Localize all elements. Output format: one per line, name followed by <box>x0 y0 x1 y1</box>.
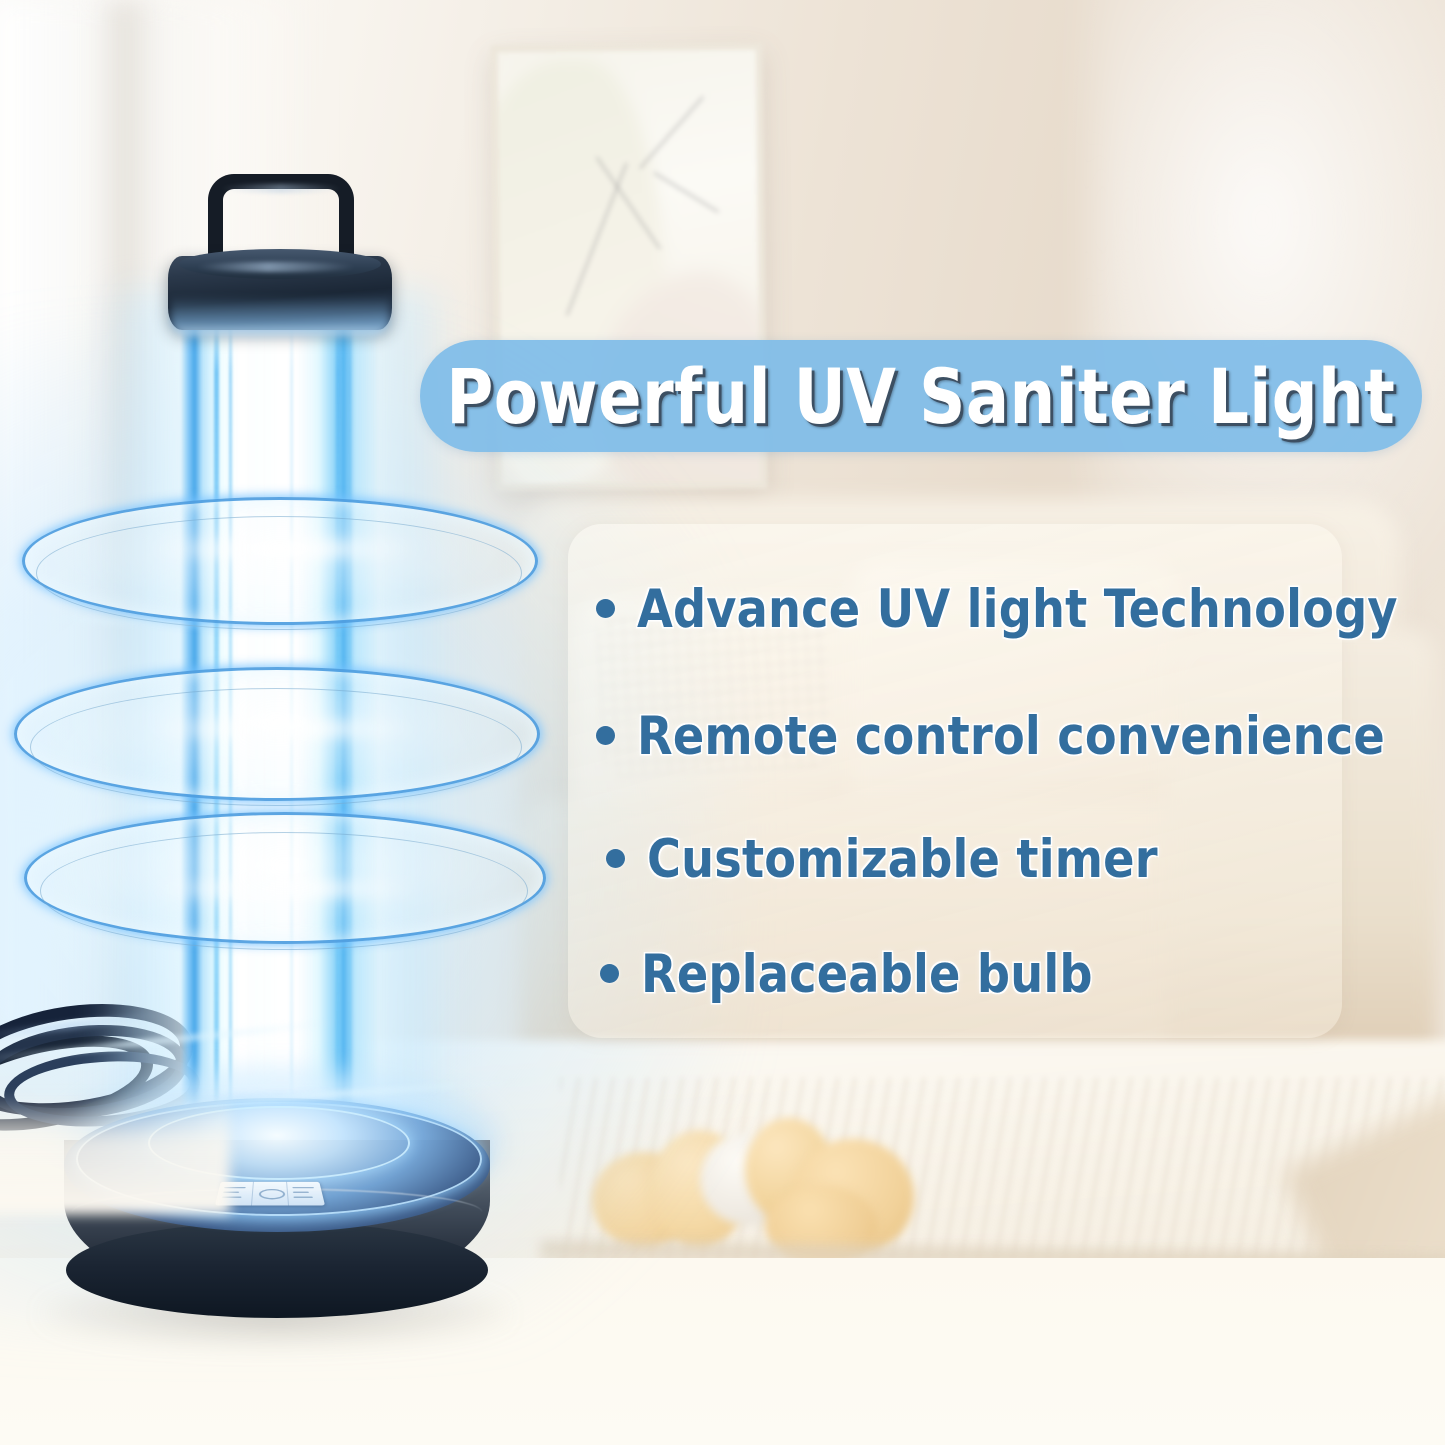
uv-emission-ring-inner <box>40 832 528 950</box>
feature-label: Replaceable bulb <box>641 944 1093 1005</box>
base-control-panel[interactable] <box>215 1182 325 1206</box>
bullet-icon <box>606 849 625 868</box>
feature-label: Customizable timer <box>647 829 1158 890</box>
lamp-cap-glow <box>171 296 389 336</box>
lamp-cap-highlight <box>196 262 356 272</box>
control-segment-center[interactable] <box>252 1182 289 1206</box>
control-marking <box>292 1187 314 1188</box>
feature-panel: Advance UV light Technology Remote contr… <box>568 524 1342 1038</box>
control-marking <box>293 1192 309 1193</box>
list-item: Customizable timer <box>606 829 1174 890</box>
art-line <box>653 172 719 213</box>
bullet-icon <box>596 599 615 618</box>
power-button-icon[interactable] <box>259 1189 286 1200</box>
list-item: Advance UV light Technology <box>596 579 1421 640</box>
uv-emission-ring-inner <box>30 688 522 806</box>
list-item: Remote control convenience <box>596 706 1408 767</box>
feature-label: Remote control convenience <box>637 706 1385 767</box>
lamp-base-bottom <box>66 1222 488 1318</box>
bullet-icon <box>596 726 615 745</box>
cable-fade-mask <box>0 1094 230 1214</box>
art-line <box>639 96 704 169</box>
product-marketing-scene: Powerful UV Saniter Light Advance UV lig… <box>0 0 1445 1445</box>
feature-list: Advance UV light Technology Remote contr… <box>568 524 1342 1038</box>
list-item: Replaceable bulb <box>600 944 1107 1005</box>
control-marking <box>293 1197 313 1198</box>
page-title: Powerful UV Saniter Light <box>447 352 1396 441</box>
uv-emission-ring-inner <box>36 516 522 630</box>
bullet-icon <box>600 964 619 983</box>
title-banner: Powerful UV Saniter Light <box>420 340 1422 452</box>
feature-label: Advance UV light Technology <box>637 579 1398 640</box>
control-segment-right[interactable] <box>287 1182 325 1206</box>
handle-highlight <box>220 184 342 193</box>
